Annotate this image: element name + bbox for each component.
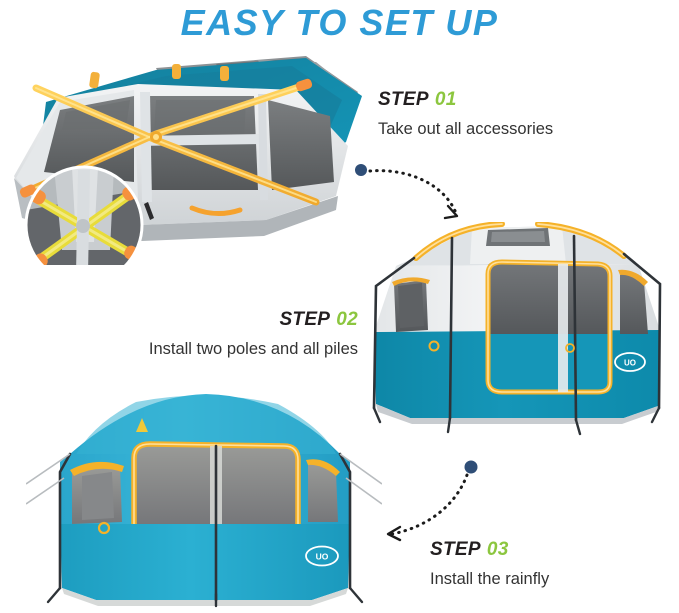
step-number: 03 (487, 539, 509, 560)
step-block-01: STEP01 Take out all accessories (378, 90, 553, 140)
photo-tent-assembled-no-rainfly: UO (352, 222, 677, 440)
step-number: 01 (435, 89, 457, 110)
step-label: STEP (279, 309, 330, 330)
step-label: STEP (378, 89, 429, 110)
step-number: 02 (336, 309, 358, 330)
step-heading-03: STEP03 (430, 540, 549, 561)
center-strut (558, 264, 568, 392)
step-description-03: Install the rainfly (430, 570, 549, 590)
svg-text:UO: UO (624, 358, 636, 367)
step-heading-01: STEP01 (378, 90, 553, 111)
connector-arrow-photo2-to-step03 (370, 455, 485, 545)
connector-arrow-step01-to-photo2 (352, 160, 472, 230)
connector-start-dot (465, 461, 478, 474)
photo-tent-folded-with-poles (6, 50, 368, 265)
step-block-02: STEP02 Install two poles and all piles (36, 310, 358, 360)
mesh-door-front (488, 262, 610, 334)
step-description-01: Take out all accessories (378, 120, 553, 140)
tent-lower-teal (60, 524, 350, 600)
step-block-03: STEP03 Install the rainfly (430, 540, 549, 590)
connector-start-dot (355, 164, 367, 176)
frame-strut-vertical (140, 92, 152, 202)
infographic-page: EASY TO SET UP (0, 0, 679, 613)
step-heading-02: STEP02 (36, 310, 358, 331)
photo-tent-with-rainfly: UO (26, 388, 382, 608)
step-label: STEP (430, 539, 481, 560)
page-title: EASY TO SET UP (0, 2, 679, 44)
svg-text:UO: UO (316, 552, 329, 562)
step-description-02: Install two poles and all piles (36, 340, 358, 360)
